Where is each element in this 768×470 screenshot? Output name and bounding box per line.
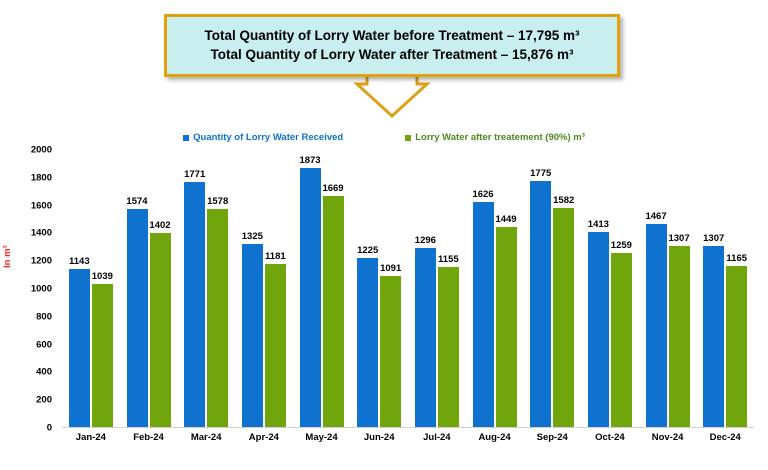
x-axis-tick: Mar-24 <box>177 432 235 443</box>
legend-label-received: Quantity of Lorry Water Received <box>193 132 343 143</box>
y-axis-tick: 1400 <box>31 228 52 239</box>
bar-treated[interactable]: 1259 <box>611 253 632 428</box>
x-axis-tick: Aug-24 <box>466 432 524 443</box>
bar-treated[interactable]: 1155 <box>438 267 459 428</box>
bar-group: 16261449 <box>466 150 524 428</box>
legend-label-treated: Lorry Water after treatement (90%) m³ <box>415 132 585 143</box>
x-axis-tick: Oct-24 <box>581 432 639 443</box>
x-axis-tick: Dec-24 <box>696 432 754 443</box>
bar-received[interactable]: 1467 <box>646 224 667 428</box>
bar-group: 14131259 <box>581 150 639 428</box>
bar-received[interactable]: 1307 <box>703 246 724 428</box>
x-axis-tick: May-24 <box>293 432 351 443</box>
x-axis: Jan-24Feb-24Mar-24Apr-24May-24Jun-24Jul-… <box>62 432 754 443</box>
bar-group: 15741402 <box>120 150 178 428</box>
x-axis-tick: Jan-24 <box>62 432 120 443</box>
bar-group: 18731669 <box>293 150 351 428</box>
y-axis-tick: 2000 <box>31 145 52 156</box>
x-axis-tick: Apr-24 <box>235 432 293 443</box>
bar-value-label: 1775 <box>530 168 551 179</box>
x-axis-line <box>62 427 754 428</box>
y-axis: 0200400600800100012001400160018002000 <box>0 150 58 428</box>
bar-received[interactable]: 1225 <box>357 258 378 428</box>
bar-treated[interactable]: 1091 <box>380 276 401 428</box>
bar-chart: Quantity of Lorry Water Received Lorry W… <box>0 118 768 470</box>
bar-value-label: 1155 <box>438 254 459 265</box>
bar-value-label: 1259 <box>611 240 632 251</box>
bar-value-label: 1296 <box>415 235 436 246</box>
legend-swatch-blue <box>183 135 189 141</box>
bar-received[interactable]: 1775 <box>530 181 551 428</box>
bar-treated[interactable]: 1307 <box>669 246 690 428</box>
bar-received[interactable]: 1296 <box>415 248 436 428</box>
bar-value-label: 1402 <box>149 220 170 231</box>
y-axis-tick: 400 <box>36 367 52 378</box>
bar-value-label: 1626 <box>472 189 493 200</box>
bar-value-label: 1325 <box>242 231 263 242</box>
bar-group: 11431039 <box>62 150 120 428</box>
summary-callout-box: Total Quantity of Lorry Water before Tre… <box>164 14 620 77</box>
bar-treated[interactable]: 1669 <box>323 196 344 428</box>
down-arrow-icon <box>353 74 431 118</box>
bar-value-label: 1771 <box>184 169 205 180</box>
bar-received[interactable]: 1873 <box>300 168 321 428</box>
summary-callout: Total Quantity of Lorry Water before Tre… <box>164 14 620 77</box>
legend-item-treated[interactable]: Lorry Water after treatement (90%) m³ <box>405 132 585 143</box>
y-axis-tick: 1000 <box>31 284 52 295</box>
bar-value-label: 1873 <box>299 155 320 166</box>
bar-received[interactable]: 1574 <box>127 209 148 428</box>
bar-value-label: 1582 <box>553 195 574 206</box>
y-axis-tick: 200 <box>36 395 52 406</box>
bar-treated[interactable]: 1181 <box>265 264 286 428</box>
bar-received[interactable]: 1626 <box>473 202 494 428</box>
bar-groups: 1143103915741402177115781325118118731669… <box>62 150 754 428</box>
bar-group: 12961155 <box>408 150 466 428</box>
bar-treated[interactable]: 1578 <box>207 209 228 428</box>
bar-value-label: 1669 <box>322 183 343 194</box>
bar-value-label: 1449 <box>495 214 516 225</box>
bar-group: 17751582 <box>523 150 581 428</box>
x-axis-tick: Nov-24 <box>639 432 697 443</box>
y-axis-tick: 600 <box>36 339 52 350</box>
bar-value-label: 1574 <box>126 196 147 207</box>
legend-swatch-green <box>405 135 411 141</box>
callout-line-after: Total Quantity of Lorry Water after Trea… <box>177 45 607 64</box>
chart-legend: Quantity of Lorry Water Received Lorry W… <box>0 132 768 143</box>
x-axis-tick: Jun-24 <box>350 432 408 443</box>
bar-group: 14671307 <box>639 150 697 428</box>
bar-value-label: 1307 <box>668 233 689 244</box>
y-axis-tick: 800 <box>36 311 52 322</box>
bar-received[interactable]: 1325 <box>242 244 263 428</box>
bar-value-label: 1039 <box>92 271 113 282</box>
plot-area: 1143103915741402177115781325118118731669… <box>62 150 754 428</box>
bar-group: 13251181 <box>235 150 293 428</box>
bar-value-label: 1225 <box>357 245 378 256</box>
x-axis-tick: Feb-24 <box>120 432 178 443</box>
y-axis-tick: 1800 <box>31 172 52 183</box>
bar-value-label: 1181 <box>265 251 286 262</box>
x-axis-tick: Sep-24 <box>523 432 581 443</box>
bar-value-label: 1165 <box>726 253 747 264</box>
bar-received[interactable]: 1143 <box>69 269 90 428</box>
bar-value-label: 1307 <box>703 233 724 244</box>
bar-value-label: 1413 <box>588 219 609 230</box>
x-axis-tick: Jul-24 <box>408 432 466 443</box>
bar-group: 13071165 <box>696 150 754 428</box>
bar-group: 17711578 <box>177 150 235 428</box>
bar-value-label: 1578 <box>207 196 228 207</box>
bar-value-label: 1091 <box>380 263 401 274</box>
y-axis-tick: 1200 <box>31 256 52 267</box>
legend-item-received[interactable]: Quantity of Lorry Water Received <box>183 132 343 143</box>
bar-treated[interactable]: 1165 <box>726 266 747 428</box>
bar-received[interactable]: 1413 <box>588 232 609 428</box>
bar-group: 12251091 <box>350 150 408 428</box>
bar-treated[interactable]: 1402 <box>150 233 171 428</box>
bar-received[interactable]: 1771 <box>184 182 205 428</box>
bar-treated[interactable]: 1449 <box>496 227 517 428</box>
bar-treated[interactable]: 1039 <box>92 284 113 428</box>
y-axis-tick: 1600 <box>31 200 52 211</box>
callout-line-before: Total Quantity of Lorry Water before Tre… <box>177 26 607 45</box>
y-axis-tick: 0 <box>47 423 52 434</box>
bar-treated[interactable]: 1582 <box>553 208 574 428</box>
bar-value-label: 1467 <box>645 211 666 222</box>
bar-value-label: 1143 <box>69 256 90 267</box>
